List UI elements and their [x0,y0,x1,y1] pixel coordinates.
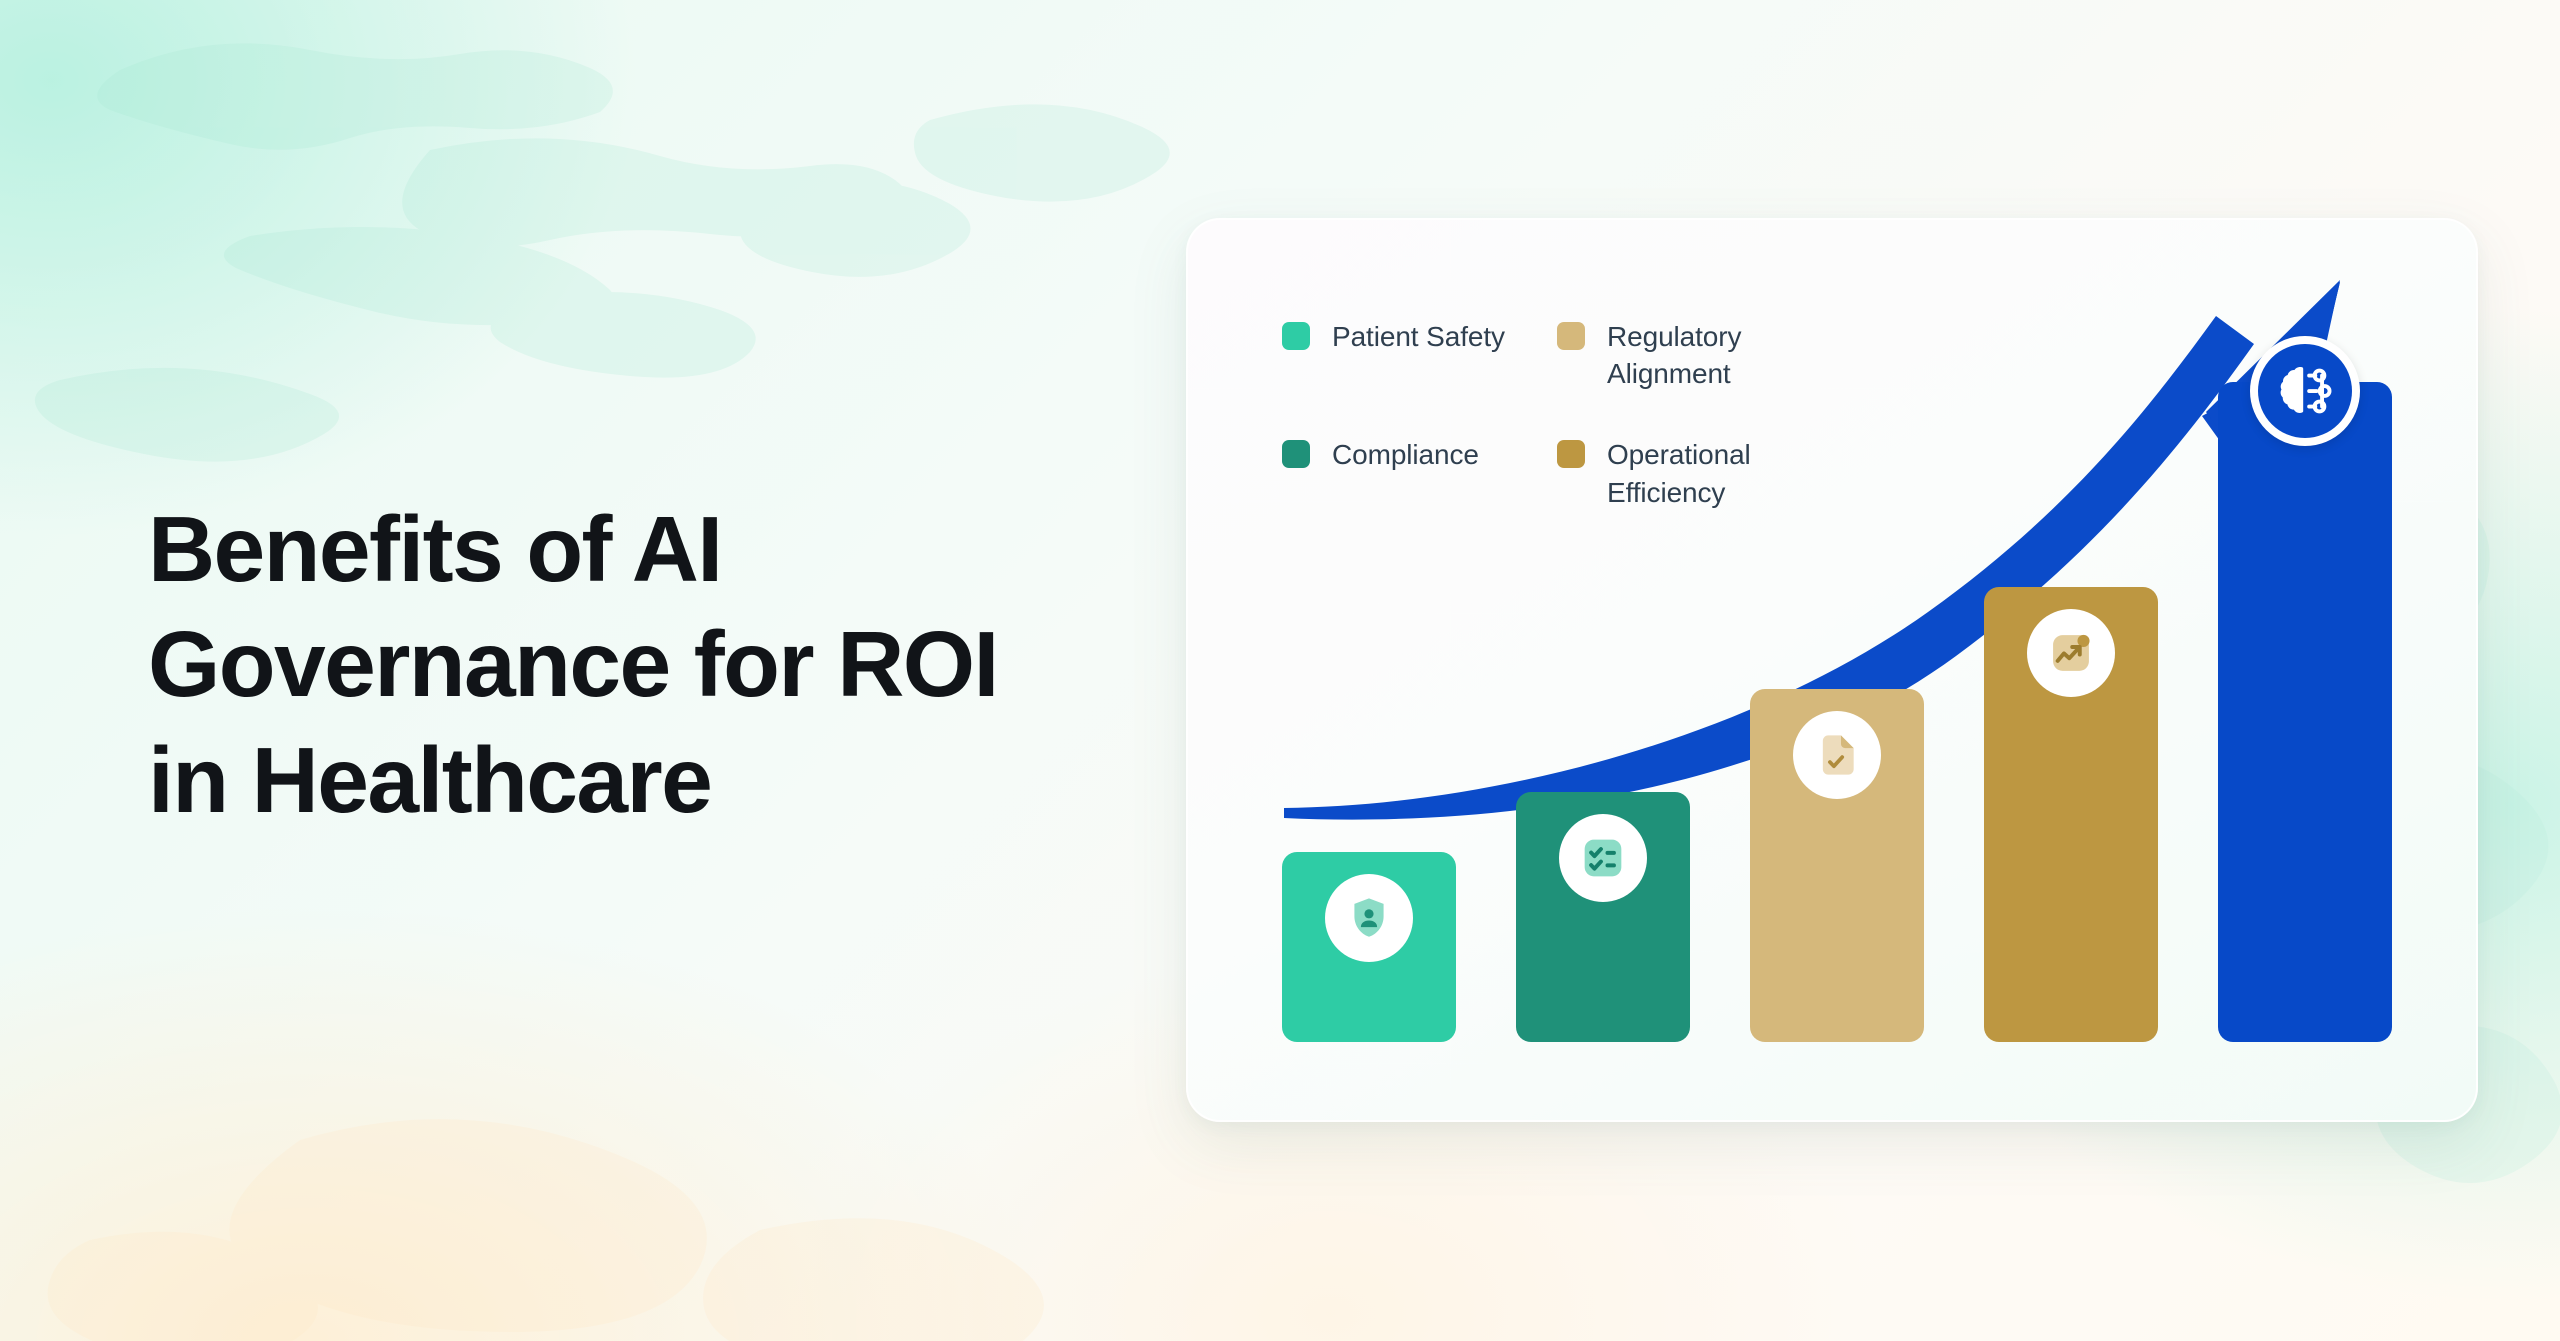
legend-swatch-icon [1282,440,1310,468]
bar-chart-bars [1188,482,2478,1042]
page-title-line-3: in Healthcare [148,728,711,832]
chart-trending-up-icon [2027,609,2115,697]
document-check-icon [1793,711,1881,799]
bar-patient-safety[interactable] [1282,852,1456,1042]
legend-swatch-icon [1557,440,1585,468]
bar-compliance[interactable] [1516,792,1690,1042]
legend-item-patient-safety: Patient Safety [1282,318,1547,392]
legend-item-regulatory-alignment: Regulatory Alignment [1557,318,1822,392]
page-title: Benefits of AI Governance for ROI in Hea… [148,492,1158,838]
shield-person-icon [1325,874,1413,962]
legend-item-label: Compliance [1332,436,1479,473]
bar-regulatory-alignment[interactable] [1750,689,1924,1042]
legend-item-label: Regulatory Alignment [1607,318,1822,392]
checklist-icon [1559,814,1647,902]
bar-ai-governance[interactable] [2218,382,2392,1042]
page-title-line-2: Governance for ROI [148,612,998,716]
legend-item-label: Patient Safety [1332,318,1505,355]
page-title-text: Benefits of AI Governance for ROI in Hea… [148,492,1158,838]
chart-card: Patient Safety Regulatory Alignment Comp… [1186,218,2478,1122]
page-title-line-1: Benefits of AI [148,497,722,601]
bar-operational-efficiency[interactable] [1984,587,2158,1042]
legend-swatch-icon [1557,322,1585,350]
ai-brain-circuit-icon [2250,336,2360,446]
legend-swatch-icon [1282,322,1310,350]
